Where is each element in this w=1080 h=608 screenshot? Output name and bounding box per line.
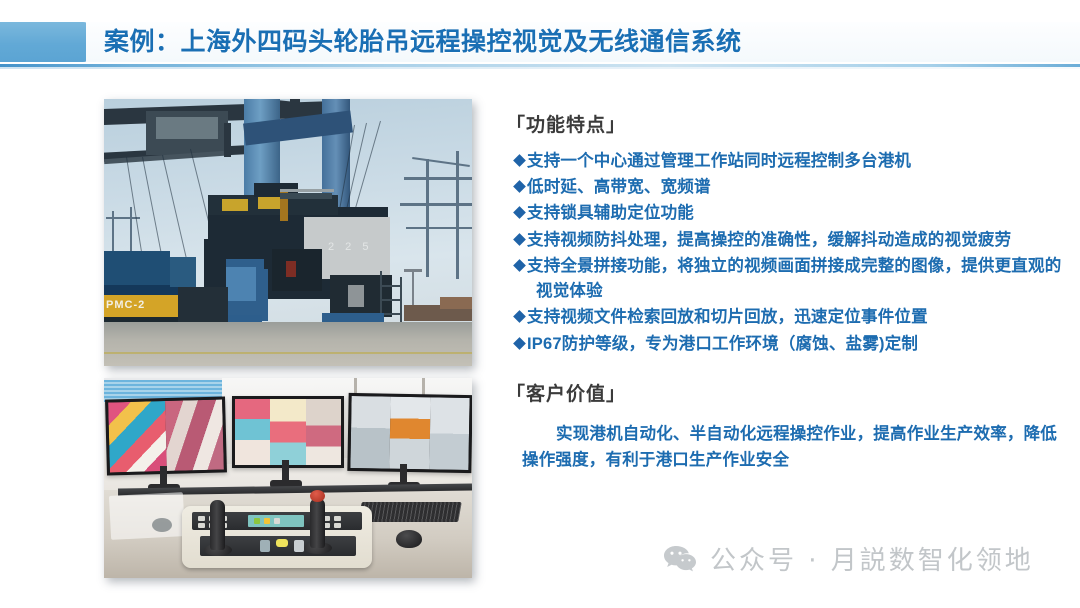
feature-item: 支持视频防抖处理，提高操控的准确性，缓解抖动造成的视觉疲劳 xyxy=(506,228,1066,253)
joystick-right[interactable] xyxy=(310,498,325,548)
feature-text: 低时延、高带宽、宽频谱 xyxy=(527,178,711,196)
diamond-bullet-icon xyxy=(513,180,526,193)
emergency-stop-button[interactable] xyxy=(310,490,325,502)
feature-item: 支持视频文件检索回放和切片回放，迅速定位事件位置 xyxy=(506,305,1066,330)
header-accent-tab xyxy=(0,22,92,62)
content-column: 「功能特点」 支持一个中心通过管理工作站同时远程控制多台港机 低时延、高带宽、宽… xyxy=(506,110,1066,490)
customer-value-heading: 「客户价值」 xyxy=(506,379,1066,406)
desk-paper-left xyxy=(109,492,185,540)
features-heading: 「功能特点」 xyxy=(506,110,1066,137)
diamond-bullet-icon xyxy=(513,311,526,324)
features-list: 支持一个中心通过管理工作站同时远程控制多台港机 低时延、高带宽、宽频谱 支持锁具… xyxy=(506,149,1066,357)
mouse xyxy=(396,530,422,548)
monitor-left xyxy=(105,396,227,475)
desk-decal xyxy=(152,518,172,532)
feature-item: IP67防护等级，专为港口工作环境（腐蚀、盐雾)定制 xyxy=(506,332,1066,357)
diamond-bullet-icon xyxy=(513,259,526,272)
feature-text: 支持一个中心通过管理工作站同时远程控制多台港机 xyxy=(527,152,911,170)
header-divider-shadow xyxy=(0,67,1080,69)
customer-value-text: 实现港机自动化、半自动化远程操控作业，提高作业生产效率，降低操作强度，有利于港口… xyxy=(506,422,1066,473)
watermark-text: 公众号 · 月説数智化领地 xyxy=(710,540,1034,577)
customer-value-block: 「客户价值」 实现港机自动化、半自动化远程操控作业，提高作业生产效率，降低操作强… xyxy=(506,379,1066,474)
wechat-icon xyxy=(663,544,697,574)
feature-text: IP67防护等级，专为港口工作环境（腐蚀、盐雾)定制 xyxy=(527,335,918,353)
page-title: 案例：上海外四码头轮胎吊远程操控视觉及无线通信系统 xyxy=(104,22,742,62)
port-crane-photo: 2 2 5 xyxy=(104,99,472,366)
control-room-photo xyxy=(104,378,472,578)
diamond-bullet-icon xyxy=(513,337,526,350)
monitor-center xyxy=(232,396,344,468)
keyboard xyxy=(358,502,462,522)
feature-item: 低时延、高带宽、宽频谱 xyxy=(506,175,1066,200)
diamond-bullet-icon xyxy=(513,154,526,167)
monitor-right xyxy=(347,393,472,473)
feature-item: 支持锁具辅助定位功能 xyxy=(506,201,1066,226)
feature-item: 支持一个中心通过管理工作站同时远程控制多台港机 xyxy=(506,149,1066,174)
feature-item: 支持全景拼接功能，将独立的视频画面拼接成完整的图像，提供更直观的视觉体验 xyxy=(506,254,1066,304)
feature-text: 支持锁具辅助定位功能 xyxy=(527,204,694,222)
page-header: 案例：上海外四码头轮胎吊远程操控视觉及无线通信系统 xyxy=(0,0,1080,78)
feature-text: 支持视频防抖处理，提高操控的准确性，缓解抖动造成的视觉疲劳 xyxy=(527,231,1011,249)
joystick-left[interactable] xyxy=(210,500,225,550)
feature-text: 支持全景拼接功能，将独立的视频画面拼接成完整的图像，提供更直观的视觉体验 xyxy=(527,257,1061,300)
ground-plane xyxy=(104,322,472,366)
watermark: 公众号 · 月説数智化领地 xyxy=(663,540,1034,577)
feature-text: 支持视频文件检索回放和切片回放，迅速定位事件位置 xyxy=(527,308,928,326)
diamond-bullet-icon xyxy=(513,233,526,246)
diamond-bullet-icon xyxy=(513,207,526,220)
